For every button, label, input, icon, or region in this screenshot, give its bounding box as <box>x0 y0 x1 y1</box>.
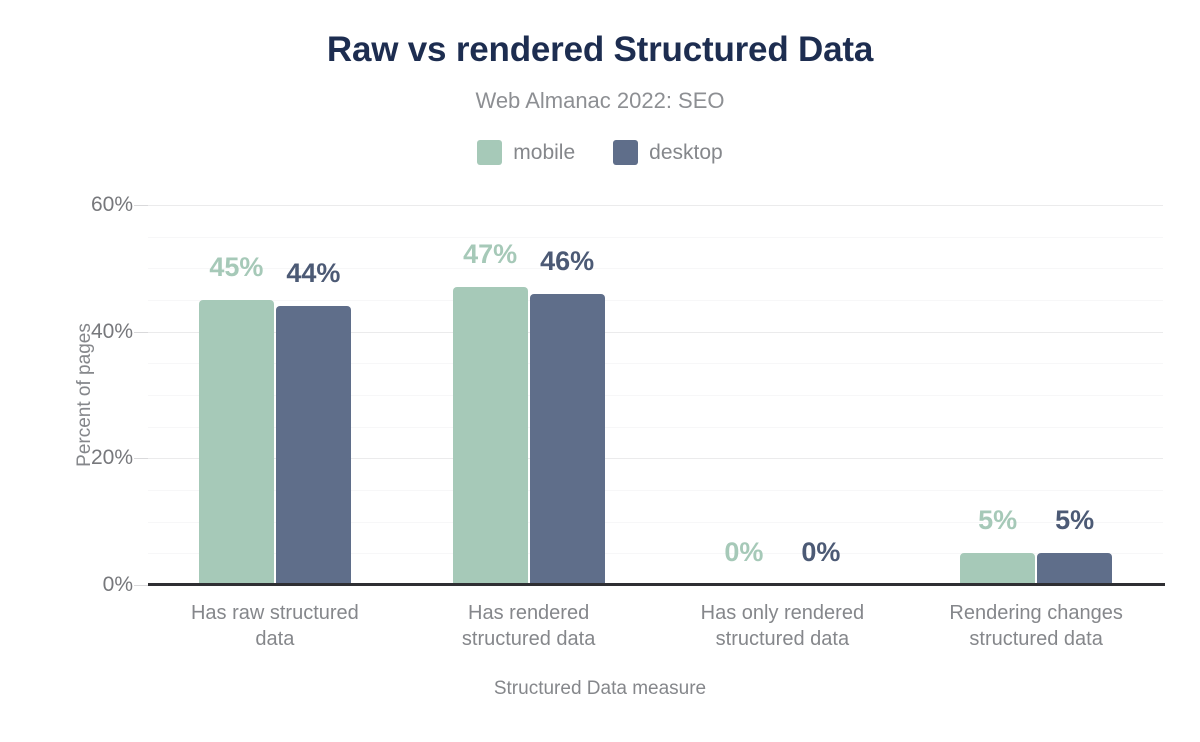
legend-item-desktop[interactable]: desktop <box>613 140 723 165</box>
gridline <box>148 237 1163 238</box>
bar-value-label-mobile-3: 5% <box>978 505 1017 536</box>
gridline <box>148 205 1163 206</box>
bar-mobile-1[interactable] <box>453 287 528 585</box>
chart-legend: mobile desktop <box>0 140 1200 165</box>
plot-area: Percent of pages 0%20%40%60%45%44%47%46%… <box>148 205 1163 585</box>
bar-mobile-3[interactable] <box>960 553 1035 585</box>
bar-value-label-mobile-0: 45% <box>209 252 263 283</box>
bar-value-label-desktop-3: 5% <box>1055 505 1094 536</box>
bar-value-label-desktop-2: 0% <box>801 537 840 568</box>
y-axis-tick-label: 20% <box>13 446 133 470</box>
x-axis-title: Structured Data measure <box>0 678 1200 700</box>
bar-value-label-mobile-2: 0% <box>724 537 763 568</box>
chart-subtitle: Web Almanac 2022: SEO <box>0 88 1200 114</box>
legend-label-mobile: mobile <box>513 141 575 165</box>
x-axis-baseline <box>148 583 1165 586</box>
y-axis-tick-label: 60% <box>13 193 133 217</box>
bar-desktop-0[interactable] <box>276 306 351 585</box>
gridline <box>148 300 1163 301</box>
bar-value-label-desktop-1: 46% <box>540 246 594 277</box>
legend-swatch-mobile <box>477 140 502 165</box>
bar-mobile-0[interactable] <box>199 300 274 585</box>
bar-value-label-mobile-1: 47% <box>463 239 517 270</box>
bar-desktop-3[interactable] <box>1037 553 1112 585</box>
y-axis-tick-mark <box>134 585 148 586</box>
bar-desktop-1[interactable] <box>530 294 605 585</box>
x-axis-tick-label-3: Rendering changesstructured data <box>921 600 1151 652</box>
x-axis-tick-label-1: Has renderedstructured data <box>414 600 644 652</box>
y-axis-title: Percent of pages <box>74 323 96 467</box>
y-axis-tick-mark <box>134 205 148 206</box>
y-axis-tick-mark <box>134 458 148 459</box>
legend-swatch-desktop <box>613 140 638 165</box>
y-axis-tick-label: 40% <box>13 320 133 344</box>
x-axis-tick-label-0: Has raw structureddata <box>160 600 390 652</box>
x-axis-tick-label-2: Has only renderedstructured data <box>667 600 897 652</box>
y-axis-tick-mark <box>134 332 148 333</box>
bar-value-label-desktop-0: 44% <box>286 258 340 289</box>
legend-label-desktop: desktop <box>649 141 723 165</box>
chart-title: Raw vs rendered Structured Data <box>0 30 1200 70</box>
legend-item-mobile[interactable]: mobile <box>477 140 575 165</box>
y-axis-tick-label: 0% <box>13 573 133 597</box>
chart-container: Raw vs rendered Structured Data Web Alma… <box>0 0 1200 742</box>
